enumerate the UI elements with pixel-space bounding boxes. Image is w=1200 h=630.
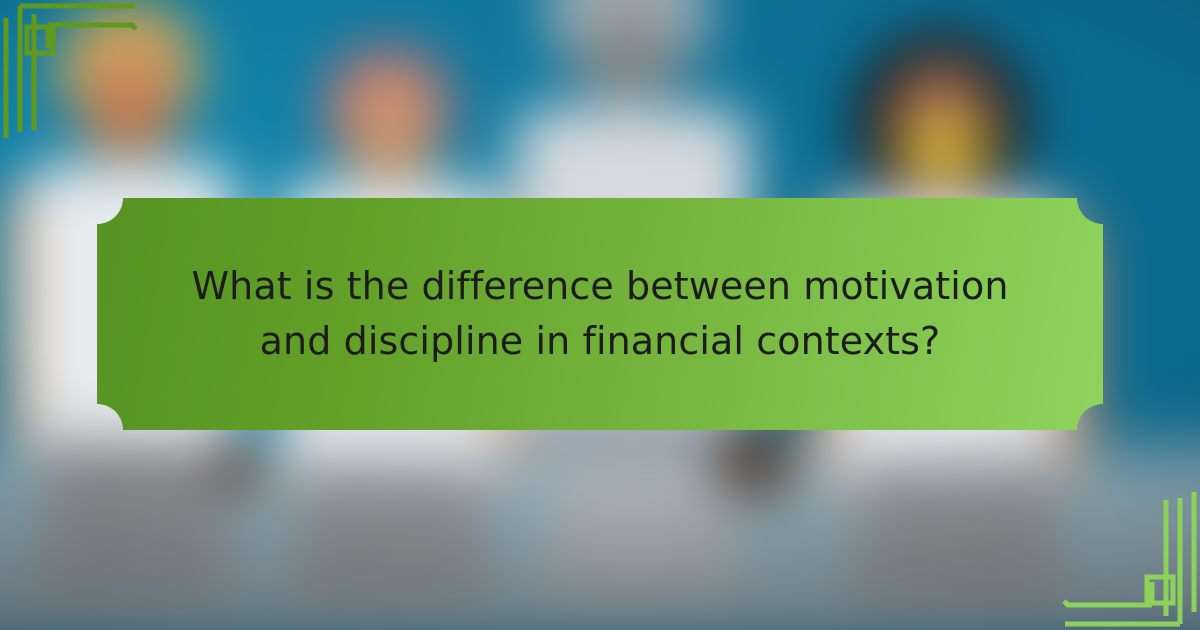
question-banner: What is the difference between motivatio… [97,198,1103,430]
page-title: What is the difference between motivatio… [100,259,1100,369]
share-card-canvas: What is the difference between motivatio… [0,0,1200,630]
